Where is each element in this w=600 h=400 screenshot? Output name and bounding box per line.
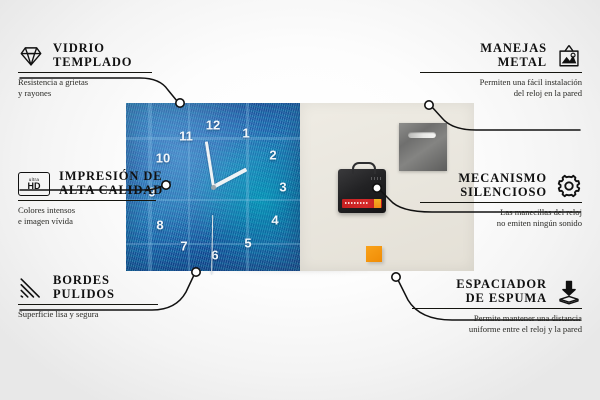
callout-vidrio-templado: VIDRIO TEMPLADO Resistencia a grietas y … bbox=[18, 42, 168, 99]
callout-divider bbox=[18, 72, 152, 73]
clock-grid-line bbox=[126, 137, 300, 140]
callout-description: Permiten una fácil instalación del reloj… bbox=[420, 77, 582, 99]
callout-divider bbox=[420, 202, 582, 203]
callout-description: Permite mantener una distancia uniforme … bbox=[412, 313, 582, 335]
callout-mecanismo-silencioso: MECANISMO SILENCIOSO Las manecillas del … bbox=[420, 172, 582, 229]
callout-manejas-metal: MANEJAS METAL Permiten una fácil instala… bbox=[420, 42, 582, 99]
clock-minute-hand bbox=[205, 141, 215, 187]
callout-title: MECANISMO SILENCIOSO bbox=[458, 172, 547, 199]
clock-center-pin bbox=[211, 185, 216, 190]
callout-bordes-pulidos: BORDES PULIDOS Superficie lisa y segura bbox=[18, 274, 168, 320]
gear-icon bbox=[556, 173, 582, 199]
clock-numeral-11: 11 bbox=[179, 130, 193, 143]
callout-description: Superficie lisa y segura bbox=[18, 309, 168, 320]
clock-grid-line bbox=[126, 243, 300, 245]
callout-title: MANEJAS METAL bbox=[480, 42, 547, 69]
callout-title: BORDES PULIDOS bbox=[53, 274, 115, 301]
clock-numeral-10: 10 bbox=[156, 152, 170, 165]
clock-numeral-7: 7 bbox=[180, 240, 187, 253]
clock-numeral-3: 3 bbox=[279, 181, 286, 194]
callout-description: Resistencia a grietas y rayones bbox=[18, 77, 168, 99]
callout-impresion-alta-calidad: ultra HD IMPRESIÓN DE ALTA CALIDAD Color… bbox=[18, 170, 170, 227]
picture-frame-hanger-icon bbox=[556, 43, 582, 69]
clock-numeral-2: 2 bbox=[269, 149, 276, 162]
callout-divider bbox=[420, 72, 582, 73]
mechanism-label bbox=[342, 199, 382, 208]
ultra-hd-icon-main-text: HD bbox=[28, 182, 41, 191]
clock-hour-hand bbox=[212, 168, 247, 189]
foam-spacer-arrow-icon bbox=[556, 279, 582, 305]
hanger-slot bbox=[408, 132, 436, 138]
callout-divider bbox=[18, 304, 158, 305]
callout-title: VIDRIO TEMPLADO bbox=[53, 42, 132, 69]
callout-description: Colores intensos e imagen vívida bbox=[18, 205, 170, 227]
hanger-plate bbox=[399, 123, 447, 171]
clock-numeral-4: 4 bbox=[271, 214, 278, 227]
callout-description: Las manecillas del reloj no emiten ningú… bbox=[420, 207, 582, 229]
polished-edge-icon bbox=[18, 275, 44, 301]
ultra-hd-icon: ultra HD bbox=[18, 172, 50, 196]
mechanism-hook bbox=[352, 162, 376, 174]
callout-title: ESPACIADOR DE ESPUMA bbox=[456, 278, 547, 305]
clock-mechanism-box bbox=[338, 169, 386, 213]
callout-divider bbox=[412, 308, 582, 309]
diamond-icon bbox=[18, 43, 44, 69]
callout-divider bbox=[18, 200, 156, 201]
callout-title: IMPRESIÓN DE ALTA CALIDAD bbox=[59, 170, 163, 197]
foam-spacer bbox=[366, 246, 382, 262]
clock-numeral-5: 5 bbox=[244, 237, 251, 250]
callout-espaciador-de-espuma: ESPACIADOR DE ESPUMA Permite mantener un… bbox=[412, 278, 582, 335]
clock-numeral-12: 12 bbox=[206, 119, 220, 132]
clock-numeral-1: 1 bbox=[242, 127, 249, 140]
mechanism-vents bbox=[371, 177, 383, 180]
infographic-canvas: 12 1 2 3 4 5 6 7 8 9 10 11 bbox=[0, 0, 600, 400]
